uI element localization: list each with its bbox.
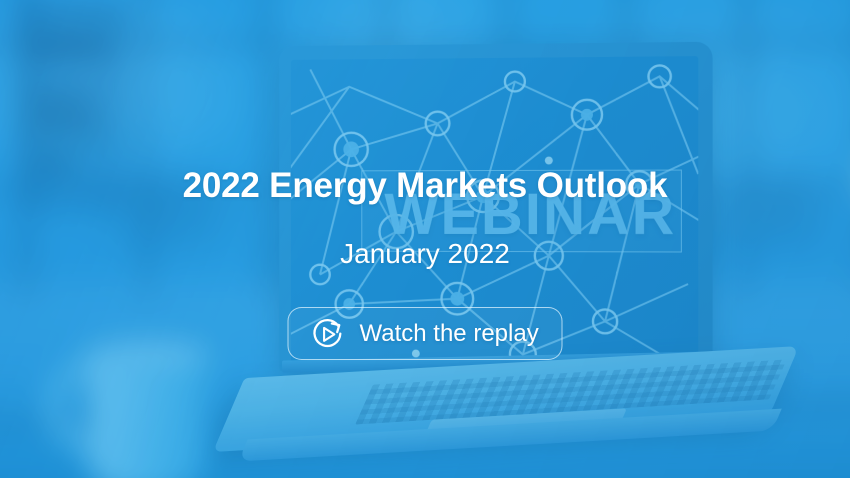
watch-replay-button[interactable]: Watch the replay	[288, 307, 563, 360]
page-title: 2022 Energy Markets Outlook	[0, 166, 850, 206]
banner-content: 2022 Energy Markets Outlook January 2022…	[0, 0, 850, 478]
watch-replay-label: Watch the replay	[360, 320, 539, 348]
webinar-promo-banner: WEBINAR 2022 Energy Markets Outlook Janu…	[0, 0, 850, 478]
banner-date: January 2022	[0, 238, 850, 270]
replay-play-icon	[309, 315, 347, 353]
